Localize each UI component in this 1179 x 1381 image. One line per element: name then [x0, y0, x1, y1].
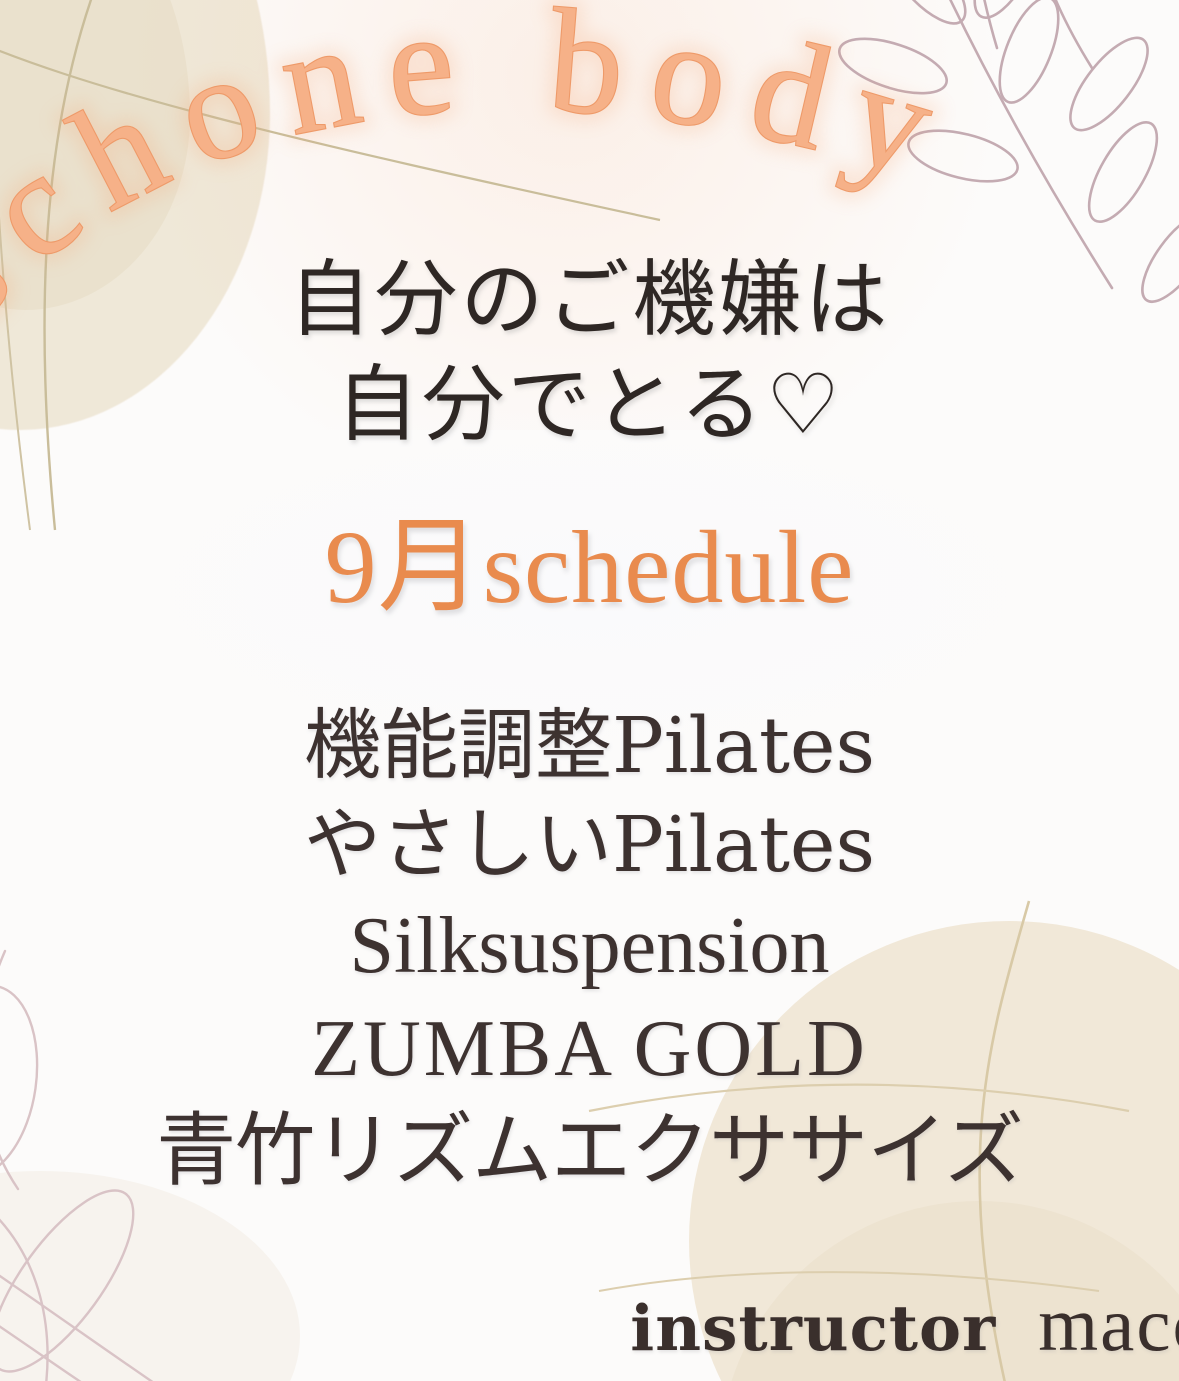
poster-content: 自分のご機嫌は 自分でとる♡ 9月schedule 機能調整Pilates やさ…	[0, 0, 1179, 1381]
poster-canvas: schone body schone body 自分のご機嫌は 自分でとる♡ 9…	[0, 0, 1179, 1381]
class-list-item-1: やさしいPilates	[156, 797, 1023, 896]
class-list-item-2: Silksuspension	[156, 895, 1023, 997]
instructor-label: instructor	[630, 1291, 996, 1365]
tagline-block: 自分のご機嫌は 自分でとる♡	[289, 248, 891, 457]
class-list-item-0: 機能調整Pilates	[156, 698, 1023, 797]
class-list-item-3: ZUMBA GOLD	[156, 998, 1023, 1100]
tagline-line-2: 自分でとる♡	[289, 353, 891, 458]
tagline-line-1: 自分のご機嫌は	[289, 248, 891, 353]
class-list: 機能調整Pilates やさしいPilates Silksuspension Z…	[156, 698, 1023, 1202]
month-schedule-title: 9月schedule	[325, 481, 855, 632]
class-list-item-4: 青竹リズムエクササイズ	[156, 1100, 1023, 1202]
instructor-row: instructor maco	[0, 1280, 1179, 1369]
instructor-name: maco	[1038, 1280, 1179, 1369]
